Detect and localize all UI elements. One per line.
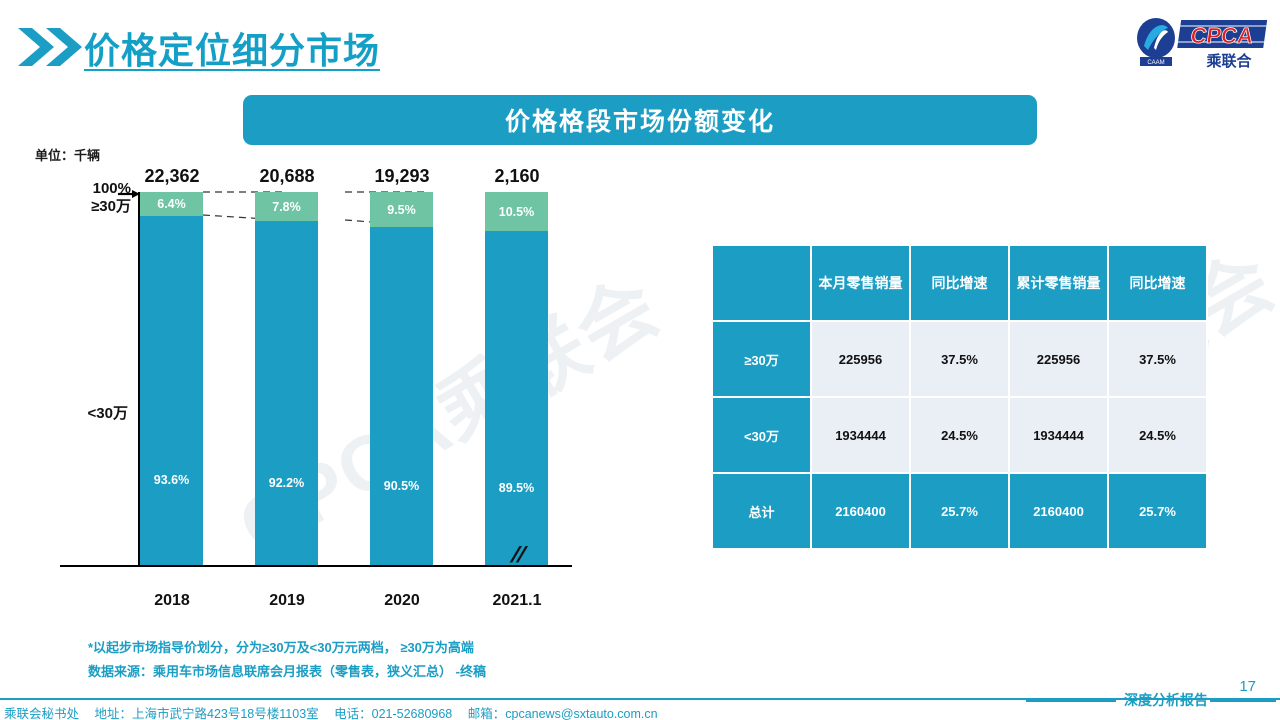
table-cell: 2160400: [812, 474, 909, 548]
x-axis-label: 2019: [241, 592, 333, 610]
table-cell: 1934444: [1010, 398, 1107, 472]
series-label-high: ≥30万: [59, 198, 131, 216]
table-cell: 24.5%: [1109, 398, 1206, 472]
table-header-row: 本月零售销量 同比增速 累计零售销量 同比增速: [713, 246, 1206, 320]
table-row-label-low: <30万: [713, 398, 810, 472]
table-row: ≥30万 225956 37.5% 225956 37.5%: [713, 322, 1206, 396]
table-cell: 225956: [1010, 322, 1107, 396]
stacked-bar-chart: 100% ≥30万 <30万 22,362 6.4% 93.6% 2018: [60, 170, 580, 620]
bar-total-label: 2,160: [471, 166, 563, 187]
x-axis-label: 2021.1: [471, 592, 563, 610]
footnote-definition: *以起步市场指导价划分，分为≥30万及<30万元两档， ≥30万为高端: [88, 636, 486, 660]
svg-text:CPCA: CPCA: [1189, 23, 1255, 48]
cpca-logo: CAAM CPCA 乘联合: [1134, 14, 1270, 70]
table-header-yoy-cumulative: 同比增速: [1109, 246, 1206, 320]
table-cell: 37.5%: [911, 322, 1008, 396]
table-cell: 24.5%: [911, 398, 1008, 472]
table-cell: 37.5%: [1109, 322, 1206, 396]
footnote-source: 数据来源：乘用车市场信息联席会月报表（零售表，狭义汇总） -终稿: [88, 660, 486, 684]
table-row-label-high: ≥30万: [713, 322, 810, 396]
table-cell: 25.7%: [911, 474, 1008, 548]
table-header-cumulative-retail: 累计零售销量: [1010, 246, 1107, 320]
footer-tag-line-left: [1026, 700, 1116, 702]
table-row-total: 总计 2160400 25.7% 2160400 25.7%: [713, 474, 1206, 548]
arrow-right-icon: [118, 186, 140, 196]
x-axis-label: 2018: [126, 592, 218, 610]
summary-table: 本月零售销量 同比增速 累计零售销量 同比增速 ≥30万 225956 37.5…: [711, 244, 1208, 550]
footer-phone: 电话：021-52680968: [334, 707, 452, 720]
bar-segment-high: 9.5%: [370, 192, 433, 227]
bar-2019[interactable]: 20,688 7.8% 92.2% 2019: [255, 192, 318, 565]
bar-segment-low: 90.5%: [370, 227, 433, 565]
slide-canvas: CPCA乘联会 CPCA乘联会 价格定位细分市场 CAAM CPCA 乘联合: [0, 0, 1280, 720]
bar-2018[interactable]: 22,362 6.4% 93.6% 2018: [140, 192, 203, 565]
svg-text:CAAM: CAAM: [1147, 60, 1164, 66]
table-cell: 25.7%: [1109, 474, 1206, 548]
table-cell: 225956: [812, 322, 909, 396]
bar-segment-low: 93.6%: [140, 216, 203, 565]
bar-2020[interactable]: 19,293 9.5% 90.5% 2020: [370, 192, 433, 565]
table-cell: 1934444: [812, 398, 909, 472]
x-axis-label: 2020: [356, 592, 448, 610]
table-row: <30万 1934444 24.5% 1934444 24.5%: [713, 398, 1206, 472]
footer-tag-line-right: [1210, 700, 1276, 702]
report-tag: 深度分析报告: [1124, 690, 1208, 710]
chart-x-axis: [60, 565, 572, 567]
bar-segment-high: 6.4%: [140, 192, 203, 216]
footer-contact: 乘联会秘书处 地址：上海市武宁路423号18号楼1103室 电话：021-526…: [4, 703, 670, 720]
section-banner: 价格格段市场份额变化: [243, 95, 1037, 145]
bar-total-label: 22,362: [126, 166, 218, 187]
bar-2021-1[interactable]: 2,160 10.5% 89.5% 2021.1: [485, 192, 548, 565]
bar-segment-low: 92.2%: [255, 221, 318, 565]
bar-segment-high: 10.5%: [485, 192, 548, 231]
series-label-low: <30万: [54, 402, 128, 423]
bar-segment-low: 89.5%: [485, 231, 548, 565]
footer-org: 乘联会秘书处: [4, 707, 79, 720]
table-cell: 2160400: [1010, 474, 1107, 548]
chart-unit-label: 单位：千辆: [35, 145, 100, 164]
svg-text:乘联合: 乘联合: [1205, 52, 1252, 70]
bar-total-label: 20,688: [241, 166, 333, 187]
table-corner-cell: [713, 246, 810, 320]
bar-total-label: 19,293: [356, 166, 448, 187]
table-header-yoy-month: 同比增速: [911, 246, 1008, 320]
chart-footnotes: *以起步市场指导价划分，分为≥30万及<30万元两档， ≥30万为高端 数据来源…: [88, 636, 486, 684]
bar-segment-high: 7.8%: [255, 192, 318, 221]
page-number: 17: [1239, 678, 1256, 695]
footer-email: 邮箱：cpcanews@sxtauto.com.cn: [468, 707, 658, 720]
footer-address: 地址：上海市武宁路423号18号楼1103室: [95, 707, 319, 720]
page-title: 价格定位细分市场: [84, 22, 380, 74]
table-row-label-total: 总计: [713, 474, 810, 548]
table-header-month-retail: 本月零售销量: [812, 246, 909, 320]
double-chevron-right-icon: [16, 26, 86, 68]
